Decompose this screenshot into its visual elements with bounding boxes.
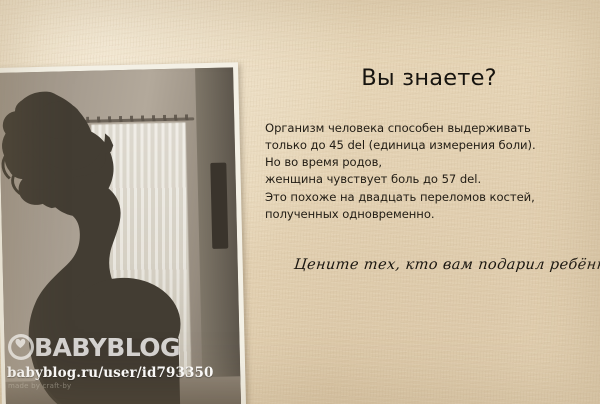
body-line: Но во время родов,	[265, 154, 594, 171]
photo-pregnant-silhouette	[0, 67, 241, 404]
body-line: женщина чувствует боль до 57 del.	[265, 171, 594, 188]
body-line: полученных одновременно.	[265, 206, 594, 223]
photo-wall-object	[210, 163, 228, 249]
body-line: Организм человека способен выдерживать	[265, 120, 594, 137]
body-text: Организм человека способен выдерживать т…	[265, 120, 594, 223]
page-title: Вы знаете?	[258, 66, 594, 91]
body-line: только до 45 del (единица измерения боли…	[265, 137, 594, 154]
signature-text: Цените тех, кто вам подарил ребёнка…	[293, 257, 595, 273]
poster: BABYBLOG babyblog.ru/user/id793350 made …	[0, 0, 600, 404]
pregnant-woman-silhouette-icon	[0, 82, 189, 404]
body-line: Это похоже на двадцать переломов костей,	[265, 189, 594, 206]
text-column: Вы знаете? Организм человека способен вы…	[258, 66, 594, 273]
photo-frame	[0, 62, 246, 404]
